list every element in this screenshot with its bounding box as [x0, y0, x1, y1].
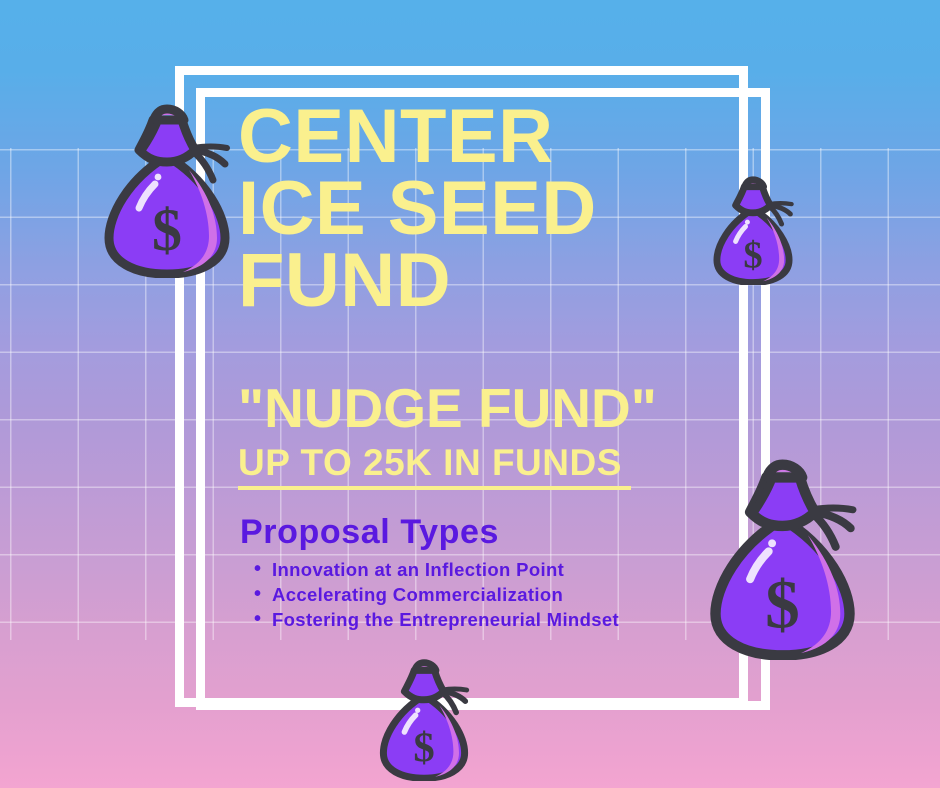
- poster-subtitle: "NUDGE FUND": [238, 381, 657, 436]
- list-item: Innovation at an Inflection Point: [252, 558, 622, 582]
- poster-content: CENTER ICE SEED FUND "NUDGE FUND" UP TO …: [0, 0, 940, 788]
- proposal-types-list: Innovation at an Inflection Point Accele…: [252, 558, 622, 633]
- list-item: Accelerating Commercialization: [252, 583, 622, 607]
- proposal-types-heading: Proposal Types: [240, 513, 499, 552]
- poster-canvas: $ $: [0, 0, 940, 788]
- list-item: Fostering the Entrepreneurial Mindset: [252, 608, 622, 632]
- poster-title: CENTER ICE SEED FUND: [238, 101, 708, 318]
- funding-amount: UP TO 25K IN FUNDS: [238, 444, 631, 481]
- funding-amount-block: UP TO 25K IN FUNDS: [238, 444, 631, 490]
- funding-amount-underline: [238, 486, 631, 490]
